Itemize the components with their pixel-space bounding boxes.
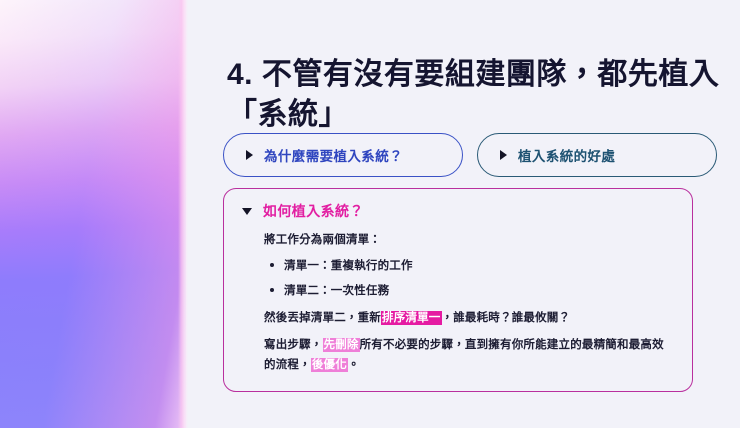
- list-item: 清單一：重複執行的工作: [284, 256, 674, 276]
- accordion-how-to-implant-system: 如何植入系統？ 將工作分為兩個清單： 清單一：重複執行的工作 清單二：一次性任務…: [223, 188, 693, 392]
- checklist: 清單一：重複執行的工作 清單二：一次性任務: [264, 256, 674, 301]
- accordion-label: 為什麼需要植入系統？: [264, 145, 403, 165]
- triangle-right-icon: [500, 150, 507, 160]
- paragraph-text-after: ，誰最耗時？誰最攸關？: [442, 312, 571, 324]
- accordion-header-label: 如何植入系統？: [263, 201, 364, 221]
- paragraph-text-before: 寫出步驟，: [264, 339, 323, 351]
- page-title: 4. 不管有沒有要組建團隊，都先植入「系統」: [227, 55, 727, 135]
- list-item: 清單二：一次性任務: [284, 281, 674, 301]
- paragraph-text-before: 然後丟掉清單二，重新: [264, 312, 381, 324]
- content-column: 4. 不管有沒有要組建團隊，都先植入「系統」 為什麼需要植入系統？ 植入系統的好…: [186, 0, 740, 428]
- highlight-optimize-later: 後優化: [311, 358, 348, 372]
- highlight-sort-list-one: 排序清單一: [381, 311, 442, 325]
- accordion-header[interactable]: 如何植入系統？: [242, 201, 674, 221]
- accordion-label: 植入系統的好處: [518, 145, 615, 165]
- accordion-why-implant-system[interactable]: 為什麼需要植入系統？: [223, 133, 463, 177]
- triangle-down-icon: [242, 208, 252, 215]
- paragraph-text-after: 。: [348, 359, 360, 371]
- slide-canvas: 4. 不管有沒有要組建團隊，都先植入「系統」 為什麼需要植入系統？ 植入系統的好…: [0, 0, 740, 428]
- accordion-body: 將工作分為兩個清單： 清單一：重複執行的工作 清單二：一次性任務 然後丟掉清單二…: [242, 221, 674, 375]
- paragraph-steps: 寫出步驟，先刪除所有不必要的步驟，直到擁有你所能建立的最精簡和最高效的流程，後優…: [264, 335, 674, 375]
- highlight-delete-first: 先刪除: [323, 338, 360, 352]
- paragraph-sorting: 然後丟掉清單二，重新排序清單一，誰最耗時？誰最攸關？: [264, 308, 674, 328]
- accordion-benefits-of-system[interactable]: 植入系統的好處: [477, 133, 717, 177]
- decorative-gradient-panel: [0, 0, 186, 428]
- triangle-right-icon: [246, 150, 253, 160]
- intro-text: 將工作分為兩個清單：: [264, 230, 674, 250]
- accordion-pill-row: 為什麼需要植入系統？ 植入系統的好處: [223, 133, 731, 177]
